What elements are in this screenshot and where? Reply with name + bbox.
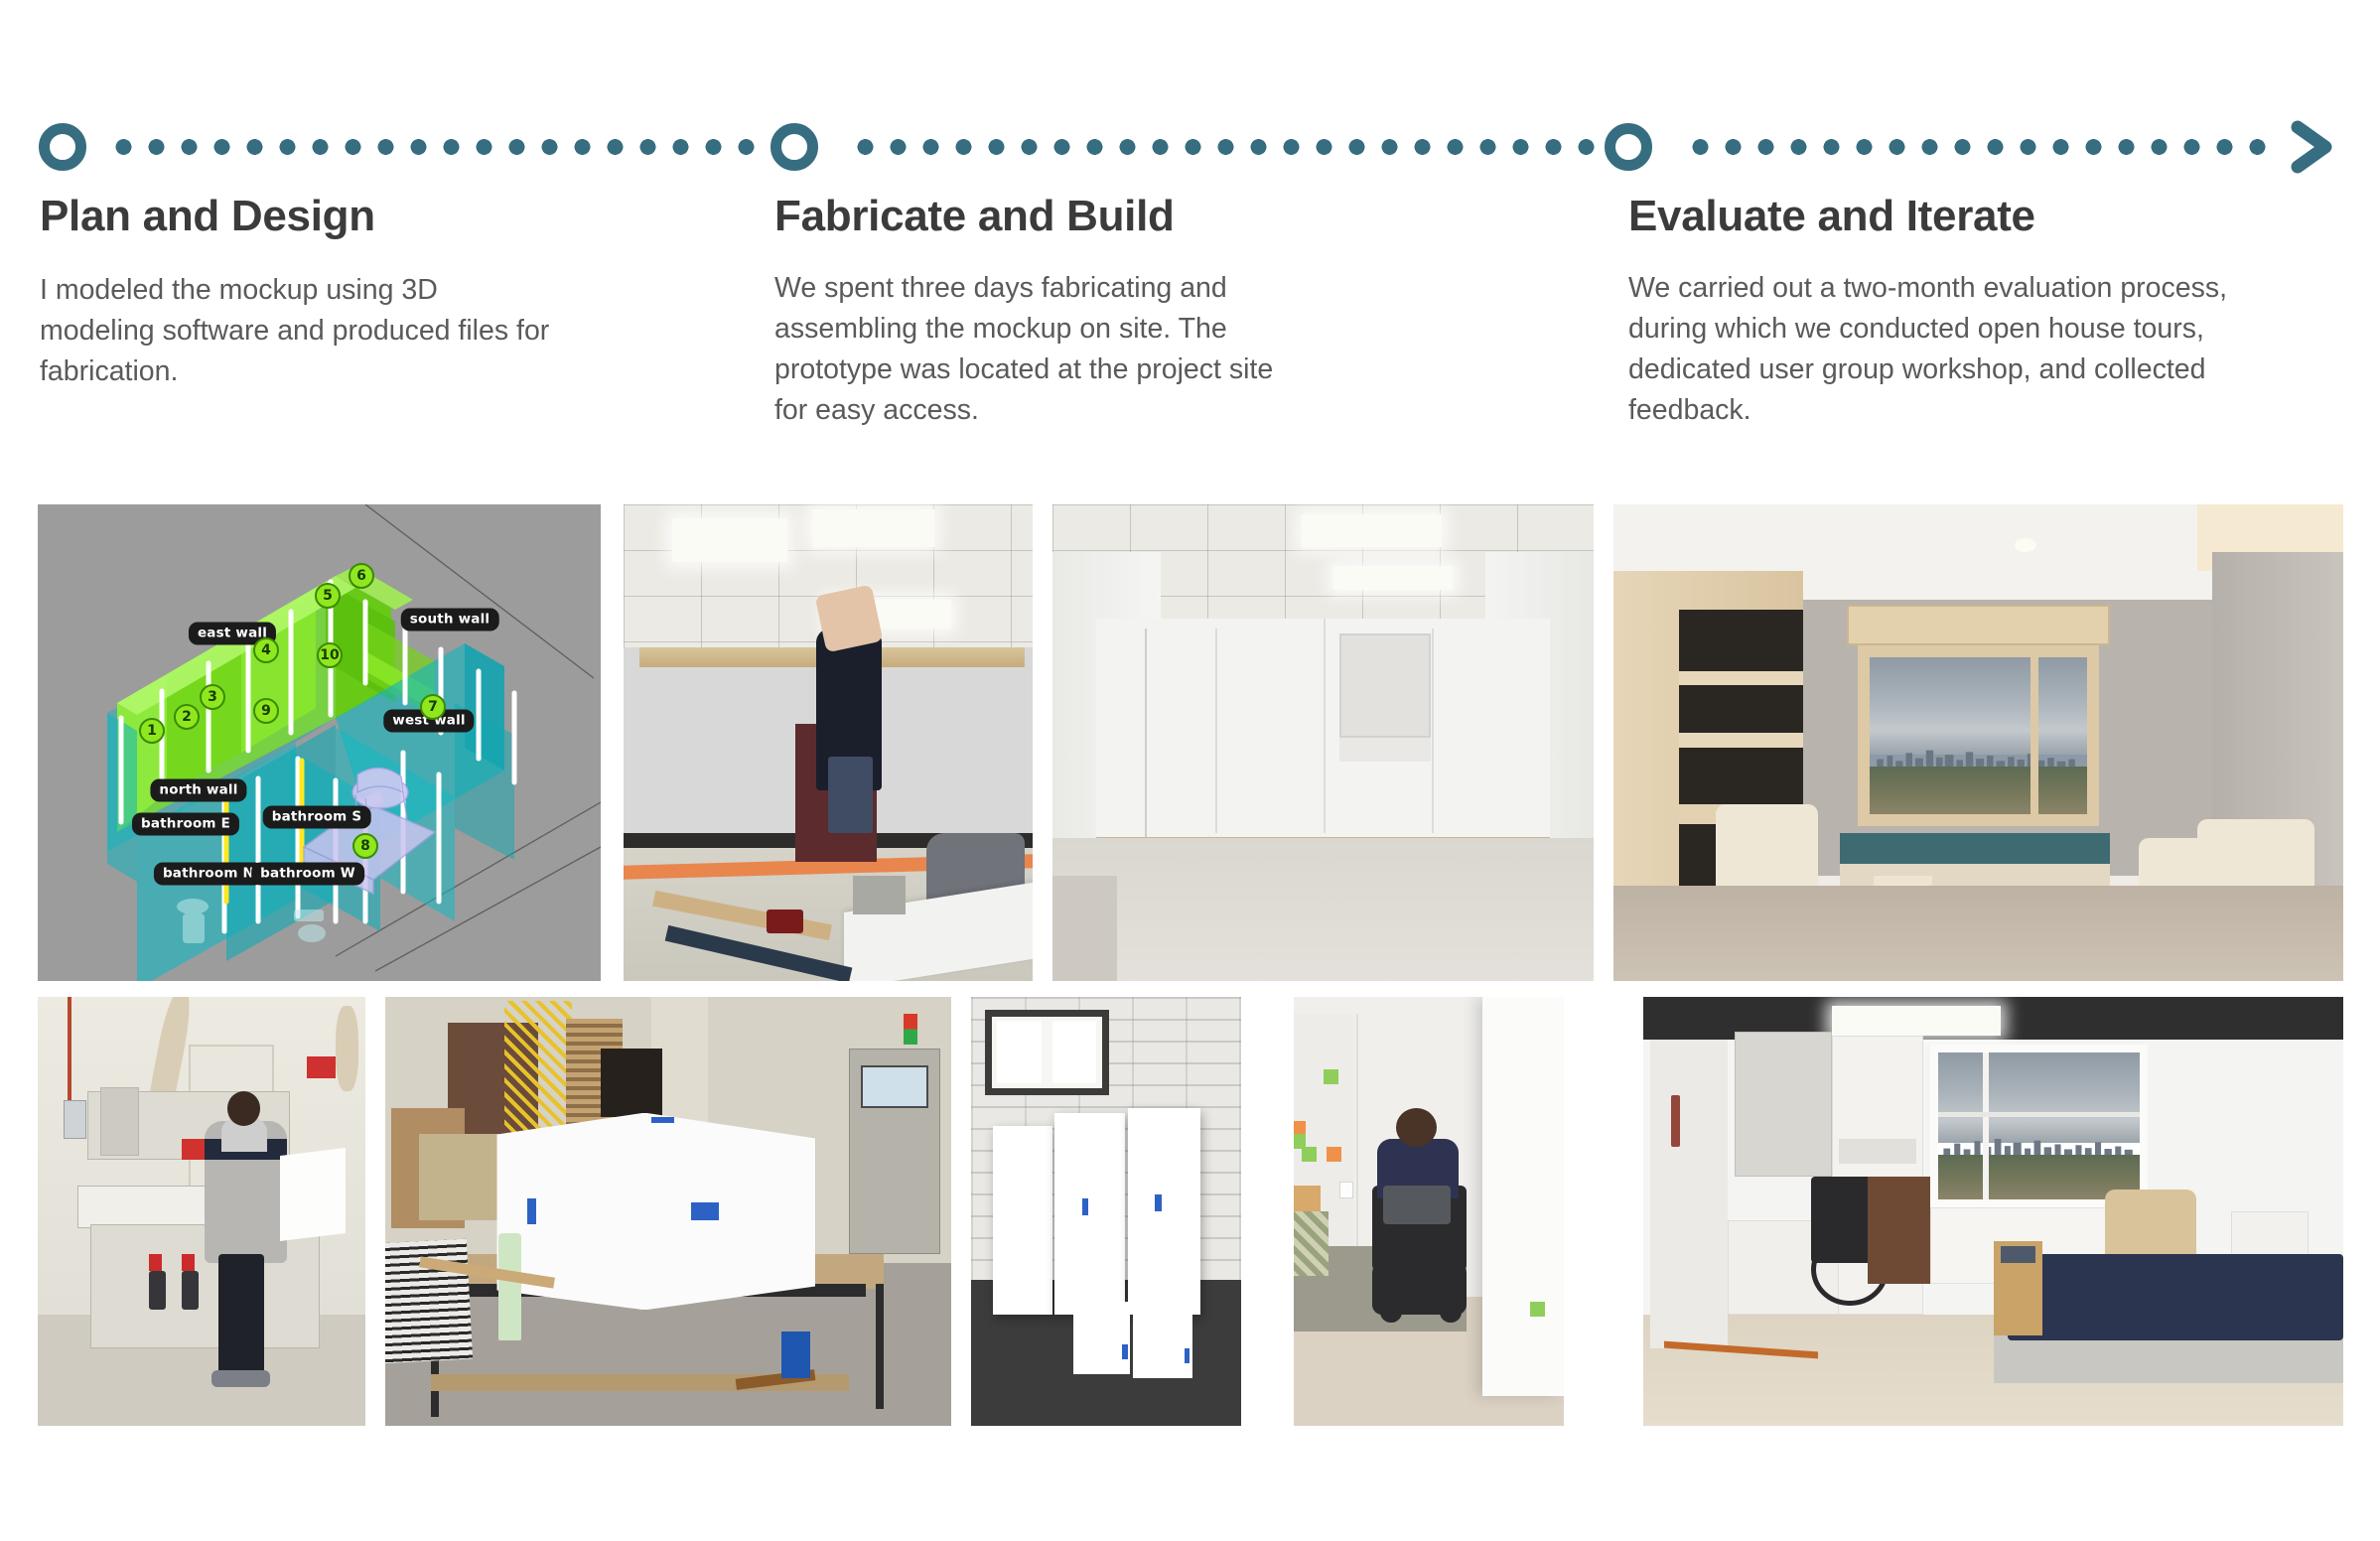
- sky: [1938, 1052, 2140, 1144]
- blue-tape-mark-1: [527, 1198, 536, 1224]
- window-pane-right: [1052, 1021, 1096, 1082]
- left-doorway: [1145, 629, 1147, 838]
- bed-control-panel: [2001, 1246, 2035, 1263]
- person-operator-shoes: [211, 1370, 270, 1387]
- cnc-control-knob-2: [182, 1271, 199, 1310]
- shop-scene: [385, 997, 951, 1426]
- cnc-scene: [38, 997, 365, 1426]
- model-marker-3[interactable]: 3: [200, 684, 225, 710]
- model-viewport: east wall south wall north wall west wal…: [38, 504, 601, 981]
- window: [1858, 645, 2099, 826]
- wheelchair-wheel-left: [1380, 1302, 1402, 1324]
- model-marker-10[interactable]: 10: [317, 642, 343, 668]
- tool-cart: [419, 1134, 498, 1219]
- cnc-control-knob-1: [149, 1271, 166, 1310]
- ceiling-light: [1832, 1006, 2000, 1036]
- model-marker-9[interactable]: 9: [253, 698, 279, 724]
- floor: [1052, 838, 1594, 981]
- brick-wall-scene: [971, 997, 1241, 1426]
- right-partition: [1482, 997, 1564, 1396]
- blue-tape-mark-1: [1082, 1198, 1089, 1215]
- stack-light: [904, 1014, 917, 1044]
- sticky-note-green-1: [1324, 1069, 1338, 1084]
- model-label-north-wall: north wall: [150, 779, 246, 802]
- model-label-bathroom-s: bathroom S: [263, 806, 371, 829]
- window-pane-left: [997, 1021, 1041, 1082]
- sky: [1870, 657, 2087, 755]
- wood-floor: [1613, 886, 2343, 981]
- model-marker-7[interactable]: 7: [420, 694, 446, 720]
- wooden-chair: [1868, 1177, 1930, 1284]
- cabinet-box-left: [1073, 1302, 1130, 1374]
- bench-cushion: [1840, 833, 2110, 864]
- fire-alarm-sign: [307, 1056, 337, 1078]
- floor-left-edge: [1052, 876, 1117, 981]
- shelf-1: [1679, 671, 1803, 685]
- blue-tape-mark-4: [1185, 1348, 1190, 1363]
- model-marker-2[interactable]: 2: [174, 704, 200, 730]
- open-shelf-niche: [1839, 1139, 1916, 1165]
- person-legs: [828, 757, 873, 833]
- concrete-block: [853, 876, 907, 913]
- photo-empty-mockup-room[interactable]: [1052, 504, 1594, 981]
- blue-tape-mark-2: [691, 1202, 720, 1219]
- ceiling-light-1: [672, 518, 786, 561]
- panel-seam-3: [1432, 629, 1434, 833]
- image-grid: east wall south wall north wall west wal…: [0, 0, 2380, 1541]
- panel-tall-left: [993, 1126, 1052, 1315]
- blue-tape-mark-3: [1122, 1344, 1127, 1359]
- model-label-south-wall: south wall: [401, 609, 499, 631]
- wall-outlet: [1339, 1182, 1353, 1198]
- headwall-device-strip: [1671, 1095, 1680, 1147]
- photo-panels-brick-wall[interactable]: [971, 997, 1241, 1426]
- model-marker-4[interactable]: 4: [253, 637, 279, 663]
- model-marker-6[interactable]: 6: [349, 563, 374, 589]
- empty-mockup-scene: [1052, 504, 1594, 981]
- blue-tool-case: [781, 1331, 810, 1379]
- window-mullion: [2030, 657, 2038, 814]
- ceiling-light-1: [1302, 514, 1443, 548]
- person-operator-head: [227, 1091, 260, 1126]
- cnc-red-switch-2: [182, 1254, 195, 1271]
- control-screen: [861, 1065, 928, 1108]
- machine-dark: [601, 1049, 663, 1117]
- built-room-scene: [1643, 997, 2343, 1426]
- jacket-on-backrest: [1383, 1186, 1451, 1224]
- spray-bottle: [498, 1233, 521, 1340]
- ceiling-downlight: [2015, 538, 2036, 552]
- panel-tall-center: [1054, 1113, 1125, 1315]
- photo-3d-model[interactable]: east wall south wall north wall west wal…: [38, 504, 601, 981]
- window-mullion-horizontal: [1938, 1112, 2140, 1117]
- slide-root: Plan and Design I modeled the mockup usi…: [0, 0, 2380, 1541]
- site-install-scene: [624, 504, 1033, 981]
- model-label-bathroom-e: bathroom E: [132, 813, 239, 836]
- photo-shop-assembly[interactable]: [385, 997, 951, 1426]
- photo-cnc-machine[interactable]: [38, 997, 365, 1426]
- recess-opening: [1339, 633, 1432, 739]
- bed-mattress: [2008, 1254, 2343, 1339]
- panel-seam-2: [1324, 619, 1326, 833]
- left-headwall-panel: [1650, 1040, 1728, 1348]
- cnc-spindle-head: [100, 1087, 140, 1156]
- window-mullion-vertical: [1983, 1052, 1989, 1199]
- sticky-note-green-3: [1302, 1147, 1317, 1162]
- wheelchair-test-scene: [1294, 997, 1564, 1426]
- sticky-note-green-4: [1530, 1302, 1545, 1317]
- ceiling-light-2: [812, 509, 935, 547]
- panel-seam-1: [1215, 629, 1217, 833]
- white-panel-held: [280, 1147, 346, 1240]
- wall-dust-duct: [336, 1006, 358, 1091]
- window-valance: [1847, 605, 2110, 645]
- ceiling-light-2: [1333, 566, 1453, 590]
- model-label-bathroom-n: bathroom N: [154, 863, 263, 886]
- cnc-red-switch-1: [149, 1254, 162, 1271]
- yellow-frame-sculpture: [504, 1001, 572, 1138]
- rendered-room-scene: [1613, 504, 2343, 981]
- model-marker-5[interactable]: 5: [315, 583, 341, 609]
- person-operator-legs: [218, 1254, 264, 1374]
- model-marker-1[interactable]: 1: [139, 718, 165, 744]
- city-ground: [1870, 767, 2087, 814]
- photo-rendered-patient-room[interactable]: [1613, 504, 2343, 981]
- electrical-panel: [64, 1100, 86, 1139]
- shelf-2: [1679, 733, 1803, 747]
- built-in-counter: [1339, 738, 1432, 762]
- blue-tape-mark-2: [1155, 1194, 1162, 1211]
- table-leg-right: [876, 1284, 884, 1408]
- bed-mattress: [1294, 1211, 1329, 1276]
- model-label-bathroom-w: bathroom W: [251, 863, 364, 886]
- panel-tall-right: [1128, 1108, 1200, 1314]
- overhead-cabinet: [1735, 1032, 1833, 1178]
- photo-installing-on-site[interactable]: [624, 504, 1033, 981]
- person-arms: [814, 585, 882, 652]
- window: [985, 1010, 1109, 1095]
- cabinet-box-right: [1133, 1310, 1192, 1378]
- tape-measure: [767, 910, 803, 933]
- wheelchair-wheel-right: [1440, 1302, 1462, 1324]
- photo-built-room-with-bed[interactable]: [1643, 997, 2343, 1426]
- sticky-note-orange-2: [1327, 1147, 1341, 1162]
- blue-tape-mark-top: [651, 1117, 674, 1123]
- window: [1930, 1045, 2148, 1207]
- model-marker-8[interactable]: 8: [352, 833, 378, 859]
- photo-wheelchair-user[interactable]: [1294, 997, 1564, 1426]
